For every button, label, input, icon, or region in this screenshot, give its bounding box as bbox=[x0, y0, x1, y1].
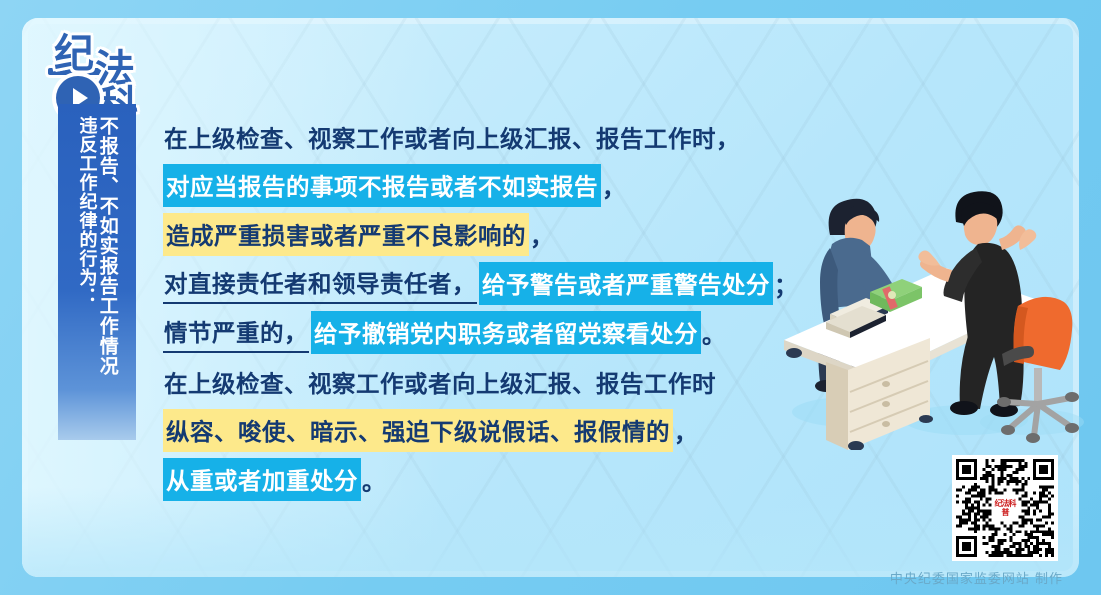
banner-sub-title: 违反工作纪律的行为： bbox=[76, 116, 96, 346]
logo-char-ji: 纪 bbox=[54, 34, 94, 74]
text-line: 情节严重的， 给予撤销党内职务或者留党察看处分。 bbox=[163, 308, 863, 357]
text-line: 在上级检查、视察工作或者向上级汇报、报告工作时， bbox=[163, 112, 863, 161]
text-segment-plain: ， bbox=[601, 167, 627, 205]
vertical-title-banner: 不报告、不如实报告工作情况 违反工作纪律的行为： bbox=[58, 104, 136, 440]
qr-code[interactable]: 纪法科普 bbox=[952, 455, 1058, 561]
text-segment-cyan: 对应当报告的事项不报告或者不如实报告 bbox=[163, 164, 601, 207]
text-segment-underline: 对直接责任者和领导责任者， bbox=[163, 263, 477, 304]
office-bribery-illustration bbox=[770, 140, 1090, 450]
text-line: 在上级检查、视察工作或者向上级汇报、报告工作时 bbox=[163, 357, 863, 406]
text-segment-plain: 。 bbox=[361, 461, 387, 499]
text-segment-plain: 在上级检查、视察工作或者向上级汇报、报告工作时， bbox=[163, 118, 741, 156]
text-segment-cyan: 给予撤销党内职务或者留党察看处分 bbox=[311, 311, 701, 354]
text-segment-plain: 在上级检查、视察工作或者向上级汇报、报告工作时 bbox=[163, 363, 717, 401]
qr-center-logo: 纪法科普 bbox=[992, 495, 1018, 521]
text-segment-plain: ， bbox=[529, 216, 555, 254]
text-segment-cyan: 从重或者加重处分 bbox=[163, 458, 361, 501]
text-segment-plain: ， bbox=[673, 412, 699, 450]
banner-main-title: 不报告、不如实报告工作情况 bbox=[96, 116, 117, 426]
text-segment-cyan: 给予警告或者严重警告处分 bbox=[479, 262, 773, 305]
text-line: 对直接责任者和领导责任者， 给予警告或者严重警告处分； bbox=[163, 259, 863, 308]
text-line: 造成严重损害或者严重不良影响的， bbox=[163, 210, 863, 259]
text-segment-yellow: 造成严重损害或者严重不良影响的 bbox=[163, 213, 529, 256]
text-segment-plain: 。 bbox=[701, 314, 727, 352]
text-line: 从重或者加重处分。 bbox=[163, 455, 863, 504]
poster-root: 纪 法 科 普 不报告、不如实报告工作情况 违反工作纪律的行为： 在上级检查、视… bbox=[0, 0, 1101, 595]
text-segment-underline: 情节严重的， bbox=[163, 312, 309, 353]
main-text-block: 在上级检查、视察工作或者向上级汇报、报告工作时，对应当报告的事项不报告或者不如实… bbox=[163, 112, 863, 504]
text-segment-yellow: 纵容、唆使、暗示、强迫下级说假话、报假情的 bbox=[163, 409, 673, 452]
text-line: 对应当报告的事项不报告或者不如实报告， bbox=[163, 161, 863, 210]
footer-credit: 中央纪委国家监委网站 制作 bbox=[890, 568, 1063, 587]
text-line: 纵容、唆使、暗示、强迫下级说假话、报假情的， bbox=[163, 406, 863, 455]
